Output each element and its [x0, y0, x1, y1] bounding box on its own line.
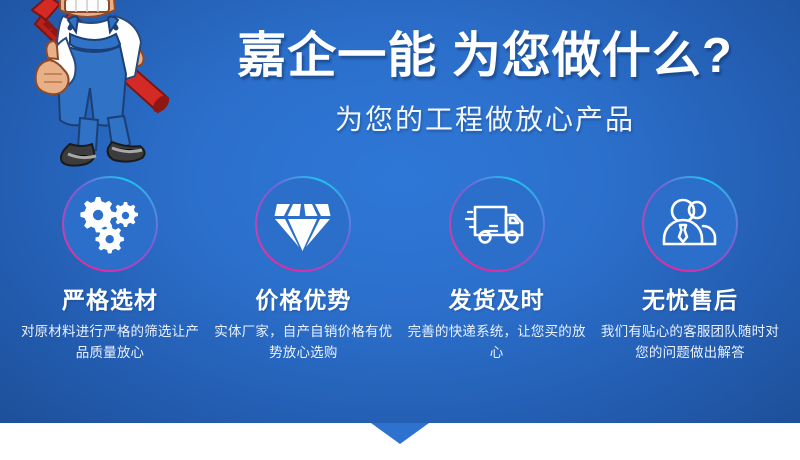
banner-subheading: 为您的工程做放心产品	[185, 103, 785, 137]
down-triangle-notch	[371, 423, 429, 444]
promo-banner: 嘉企一能 为您做什么? 为您的工程做放心产品	[0, 0, 800, 460]
customer-service-people-icon	[642, 176, 738, 272]
delivery-truck-icon	[449, 176, 545, 272]
banner-heading: 嘉企一能 为您做什么?	[185, 28, 785, 84]
blue-panel: 嘉企一能 为您做什么? 为您的工程做放心产品	[0, 0, 800, 423]
feature-item[interactable]: 发货及时 完善的快递系统，让您买的放心	[403, 176, 591, 364]
feature-title: 严格选材	[62, 288, 158, 313]
feature-desc: 我们有贴心的客服团队随时对您的问题做出解答	[597, 322, 783, 364]
feature-item[interactable]: 无忧售后 我们有贴心的客服团队随时对您的问题做出解答	[596, 176, 784, 364]
diamond-icon	[255, 176, 351, 272]
feature-title: 发货及时	[449, 288, 545, 313]
feature-desc: 完善的快递系统，让您买的放心	[404, 322, 590, 364]
feature-desc: 实体厂家，自产自销价格有优势放心选购	[210, 322, 396, 364]
feature-item[interactable]: 严格选材 对原材料进行严格的筛选让产品质量放心	[16, 176, 204, 364]
feature-title: 无忧售后	[642, 288, 738, 313]
worker-with-wrench-mascot	[8, 0, 183, 174]
gears-icon	[62, 176, 158, 272]
feature-list: 严格选材 对原材料进行严格的筛选让产品质量放心	[0, 176, 800, 364]
feature-desc: 对原材料进行严格的筛选让产品质量放心	[17, 322, 203, 364]
feature-title: 价格优势	[255, 288, 351, 313]
feature-item[interactable]: 价格优势 实体厂家，自产自销价格有优势放心选购	[209, 176, 397, 364]
